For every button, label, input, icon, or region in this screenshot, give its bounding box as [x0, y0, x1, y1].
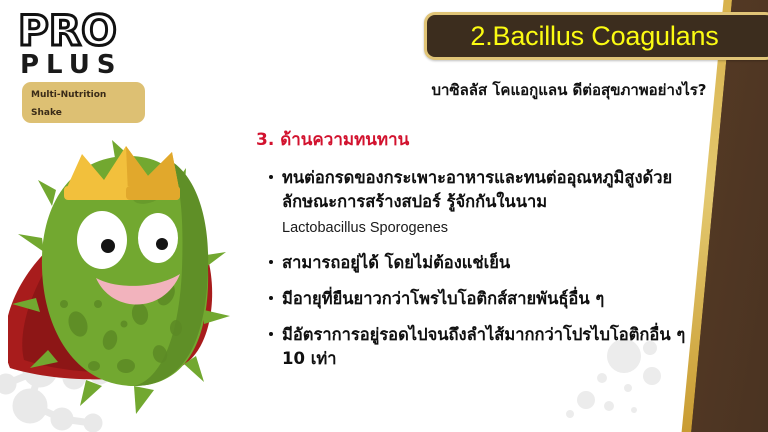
bullet-text: ทนต่อกรดของกระเพาะอาหารและทนต่ออุณหภูมิส…: [282, 168, 672, 211]
bullet-text: สามารถอยู่ได้ โดยไม่ต้องแช่เย็น: [282, 253, 510, 272]
section-heading: 3. ด้านความทนทาน: [256, 126, 409, 153]
logo-pro-text: PRO: [18, 10, 117, 52]
mascot-crown: [64, 146, 180, 200]
list-item: สามารถอยู่ได้ โดยไม่ต้องแช่เย็น: [268, 251, 708, 275]
list-item: มีอัตราการอยู่รอดไปจนถึงลำไส้มากกว่าโปรไ…: [268, 323, 708, 371]
page-subtitle: บาซิลลัส โคแอกูแลน ดีต่อสุขภาพอย่างไร?: [404, 78, 734, 102]
bullet-list: ทนต่อกรดของกระเพาะอาหารและทนต่ออุณหภูมิส…: [268, 166, 708, 383]
page-title: 2.Bacillus Coagulans: [470, 21, 732, 52]
logo-plus-text: PLUS: [20, 52, 123, 78]
list-item: มีอายุที่ยืนยาวกว่าโพรไบโอติกส์สายพันธุ์…: [268, 287, 708, 311]
brand-logo: PRO PLUS Multi-Nutrition Shake: [10, 6, 145, 106]
slide-canvas: PRO PLUS Multi-Nutrition Shake 2.Bacillu…: [0, 0, 768, 432]
bullet-text: มีอัตราการอยู่รอดไปจนถึงลำไส้มากกว่าโปรไ…: [282, 325, 685, 368]
list-item: ทนต่อกรดของกระเพาะอาหารและทนต่ออุณหภูมิส…: [268, 166, 708, 239]
title-banner: 2.Bacillus Coagulans: [424, 12, 768, 60]
logo-tagline-text: Multi-Nutrition Shake: [31, 90, 106, 118]
bullet-latin-name: Lactobacillus Sporogenes: [282, 218, 708, 239]
bullet-text: มีอายุที่ยืนยาวกว่าโพรไบโอติกส์สายพันธุ์…: [282, 289, 604, 308]
bacteria-king-mascot: [8, 128, 258, 418]
logo-tagline-pill: Multi-Nutrition Shake: [22, 82, 145, 123]
